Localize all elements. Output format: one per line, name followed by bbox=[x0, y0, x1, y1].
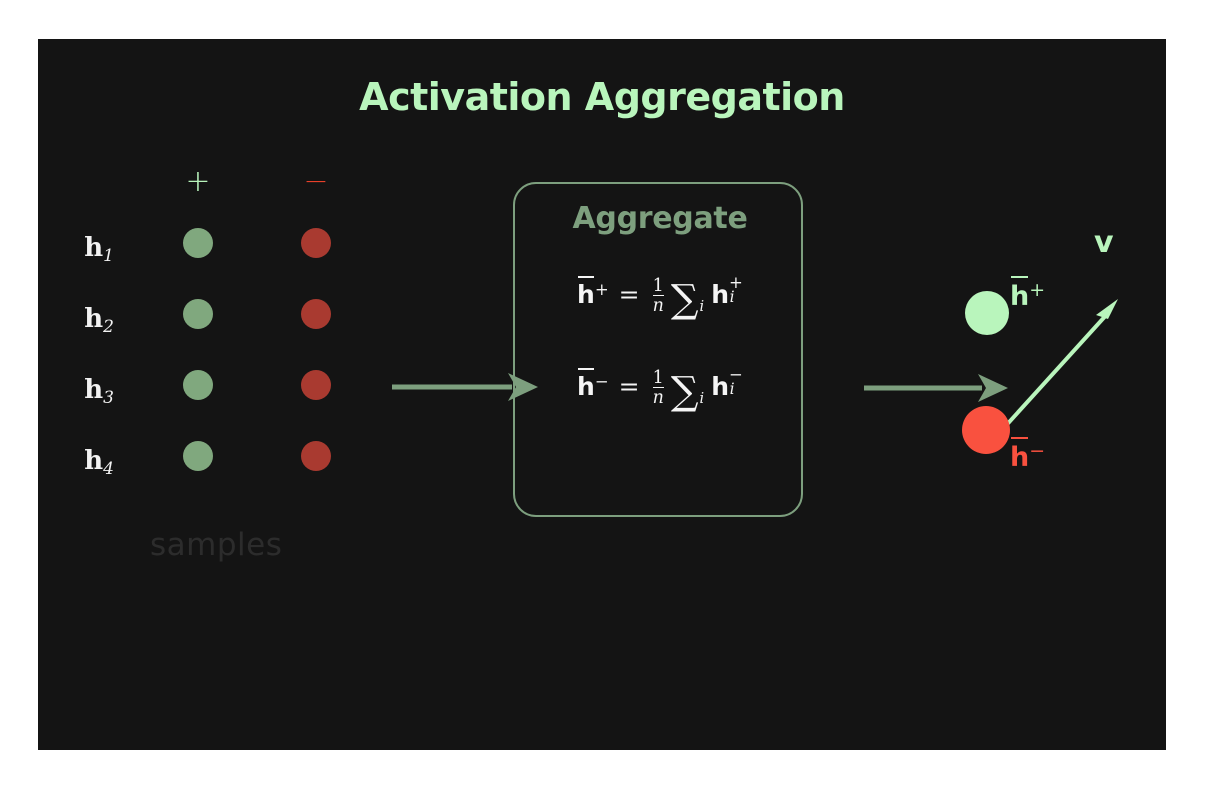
page-title: Activation Aggregation bbox=[38, 75, 1166, 119]
row-label-h4: h4 bbox=[50, 448, 114, 482]
equation-pos-rhs-symbol: h bbox=[711, 280, 729, 309]
row-label-h3-base: h bbox=[84, 375, 103, 405]
mean-positive-point bbox=[965, 291, 1009, 335]
sample-dot-positive-3 bbox=[183, 370, 213, 400]
sample-dot-positive-1 bbox=[183, 228, 213, 258]
sample-dot-positive-2 bbox=[183, 299, 213, 329]
equation-pos-rhs-sub: i bbox=[730, 288, 735, 306]
sample-dot-negative-2 bbox=[301, 299, 331, 329]
sample-dot-negative-3 bbox=[301, 370, 331, 400]
row-label-h2-subscript: 2 bbox=[103, 317, 114, 337]
sample-dot-negative-1 bbox=[301, 228, 331, 258]
row-label-h2-base: h bbox=[84, 304, 103, 334]
row-label-h1: h1 bbox=[50, 235, 114, 269]
mean-positive-label-sign: + bbox=[1029, 279, 1045, 301]
equation-pos-denominator: n bbox=[653, 295, 664, 315]
row-label-h4-subscript: 4 bbox=[103, 459, 114, 479]
row-label-h3: h3 bbox=[50, 377, 114, 411]
equation-mean-positive: h+=1n∑ih+i bbox=[515, 277, 805, 322]
equation-pos-equals: = bbox=[619, 280, 640, 309]
row-label-h4-base: h bbox=[84, 446, 103, 476]
row-label-h3-subscript: 3 bbox=[103, 388, 114, 408]
equation-neg-lhs-sign: − bbox=[595, 372, 609, 391]
row-label-h2: h2 bbox=[50, 306, 114, 340]
column-header-negative: − bbox=[296, 167, 336, 197]
sample-dot-positive-4 bbox=[183, 441, 213, 471]
mean-positive-label-symbol: h bbox=[1010, 281, 1029, 312]
mean-negative-label-sign: − bbox=[1029, 440, 1045, 462]
column-header-positive: + bbox=[178, 167, 218, 197]
equation-neg-rhs-scripts: −i bbox=[729, 370, 743, 395]
equation-pos-sum-symbol: ∑ bbox=[671, 277, 699, 322]
equation-pos-lhs-symbol: h bbox=[577, 280, 595, 309]
equation-pos-lhs-sign: + bbox=[595, 280, 609, 299]
sample-dot-negative-4 bbox=[301, 441, 331, 471]
direction-vector-label: v bbox=[1094, 225, 1114, 260]
equation-pos-fraction: 1n bbox=[653, 277, 664, 316]
figure-canvas: Activation Aggregation + − h1 h2 h3 h4 s… bbox=[0, 0, 1205, 792]
equation-mean-negative: h−=1n∑ih−i bbox=[515, 369, 805, 414]
row-label-h1-subscript: 1 bbox=[103, 246, 114, 266]
equation-pos-rhs-scripts: +i bbox=[729, 278, 743, 303]
equation-neg-fraction: 1n bbox=[653, 369, 664, 408]
equation-neg-sum-symbol: ∑ bbox=[671, 369, 699, 414]
equation-neg-numerator: 1 bbox=[653, 369, 664, 387]
equation-neg-rhs-symbol: h bbox=[711, 372, 729, 401]
equation-neg-equals: = bbox=[619, 372, 640, 401]
row-label-h1-base: h bbox=[84, 233, 103, 263]
equation-pos-numerator: 1 bbox=[653, 277, 664, 295]
mean-positive-label: h+ bbox=[1010, 279, 1045, 312]
aggregate-box: Aggregate h+=1n∑ih+i h−=1n∑ih−i bbox=[513, 182, 803, 517]
dark-panel: Activation Aggregation + − h1 h2 h3 h4 s… bbox=[38, 39, 1166, 750]
equation-neg-denominator: n bbox=[653, 387, 664, 407]
mean-negative-label: h− bbox=[1010, 440, 1045, 473]
equation-neg-sum-index: i bbox=[700, 391, 705, 407]
equation-neg-rhs-sub: i bbox=[730, 380, 735, 398]
aggregate-title: Aggregate bbox=[515, 201, 805, 236]
mean-negative-point bbox=[962, 406, 1010, 454]
equation-neg-lhs-symbol: h bbox=[577, 372, 595, 401]
equation-pos-sum-index: i bbox=[700, 299, 705, 315]
samples-axis-label: samples bbox=[150, 527, 282, 563]
mean-negative-label-symbol: h bbox=[1010, 442, 1029, 473]
